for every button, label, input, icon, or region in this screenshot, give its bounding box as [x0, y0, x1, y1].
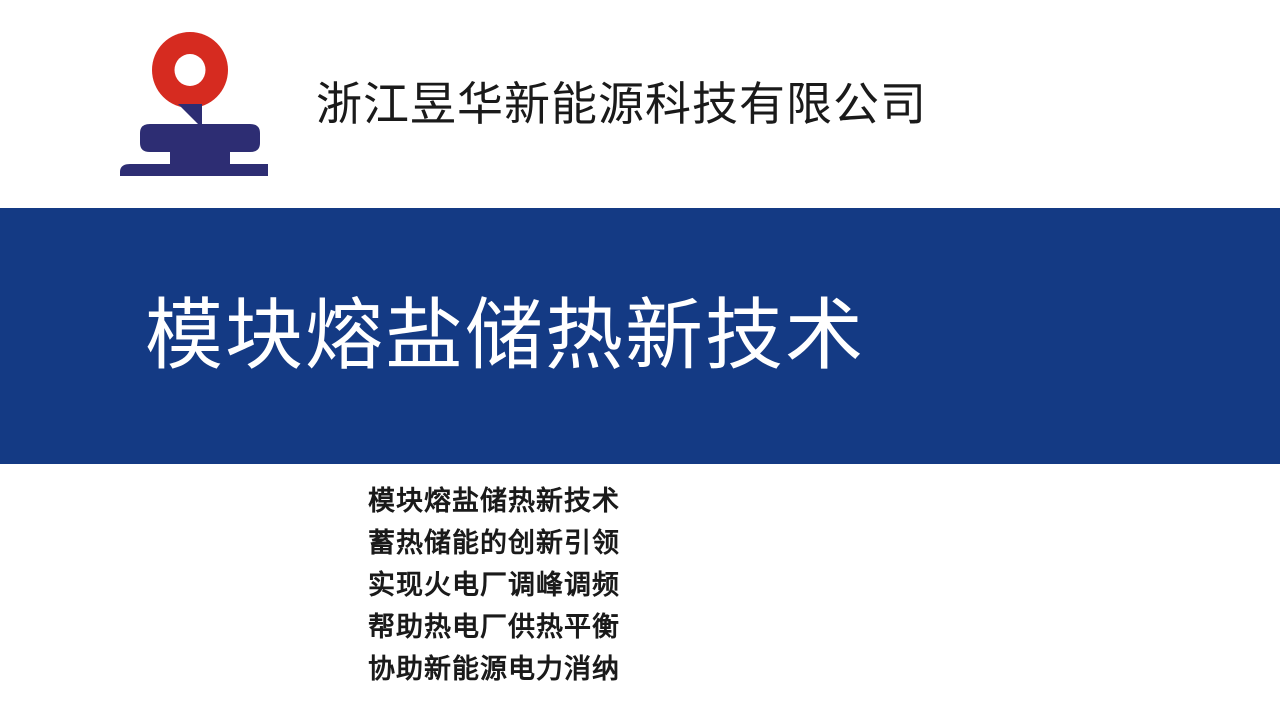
slide-title-wrapper: 模块熔盐储热新技术 [0, 208, 1280, 464]
title-banner: 模块熔盐储热新技术 [0, 208, 1280, 464]
tagline-item: 帮助热电厂供热平衡 [0, 606, 988, 648]
tagline-item: 协助新能源电力消纳 [0, 648, 988, 690]
tagline-item: 实现火电厂调峰调频 [0, 564, 988, 606]
tagline-item: 蓄热储能的创新引领 [0, 522, 988, 564]
tagline-list: 模块熔盐储热新技术 蓄热储能的创新引领 实现火电厂调峰调频 帮助热电厂供热平衡 … [0, 480, 1280, 690]
slide-title: 模块熔盐储热新技术 [145, 295, 865, 377]
presentation-slide: 浙江昱华新能源科技有限公司 模块熔盐储热新技术 模块熔盐储热新技术 蓄热储能的创… [0, 0, 1280, 720]
company-logo-icon [112, 28, 268, 176]
slide-header: 浙江昱华新能源科技有限公司 [0, 0, 1280, 208]
tagline-item: 模块熔盐储热新技术 [0, 480, 988, 522]
company-name: 浙江昱华新能源科技有限公司 [316, 74, 1016, 136]
